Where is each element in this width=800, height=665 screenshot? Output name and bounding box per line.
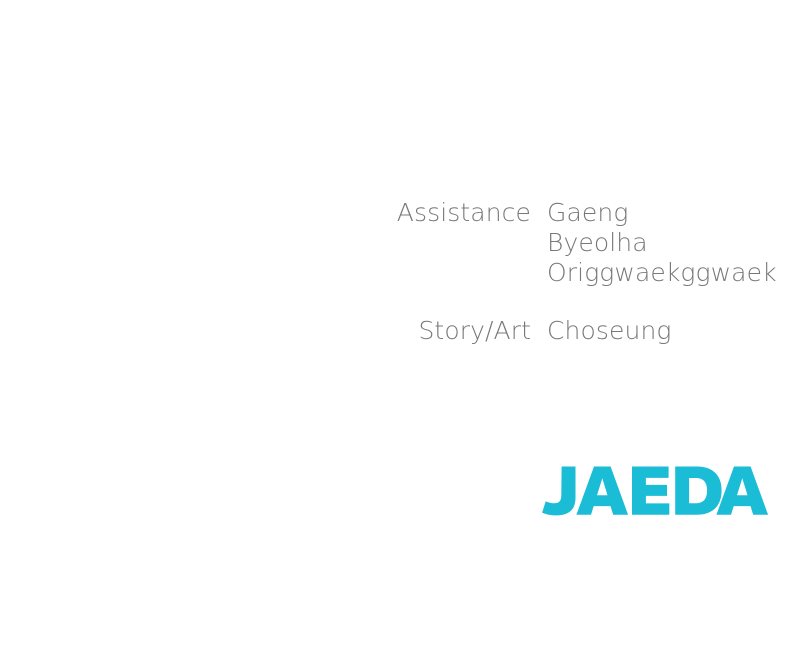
credits-page: Assistance Gaeng Byeolha Origgwaekggwaek…	[0, 0, 800, 665]
credit-value: Gaeng	[547, 198, 777, 228]
jaedam-logo	[531, 462, 769, 518]
credit-values-assistance: Gaeng Byeolha Origgwaekggwaek	[547, 198, 777, 288]
credit-label-assistance: Assistance	[0, 198, 531, 228]
credit-values-story-art: Choseung	[547, 316, 672, 346]
credit-row: Assistance Gaeng Byeolha Origgwaekggwaek	[0, 198, 800, 288]
credit-value: Choseung	[547, 316, 672, 346]
credit-value: Byeolha	[547, 228, 777, 258]
credit-value: Origgwaekggwaek	[547, 258, 777, 288]
credits-block: Assistance Gaeng Byeolha Origgwaekggwaek…	[0, 198, 800, 346]
credit-label-story-art: Story/Art	[0, 316, 531, 346]
credit-row: Story/Art Choseung	[0, 316, 800, 346]
